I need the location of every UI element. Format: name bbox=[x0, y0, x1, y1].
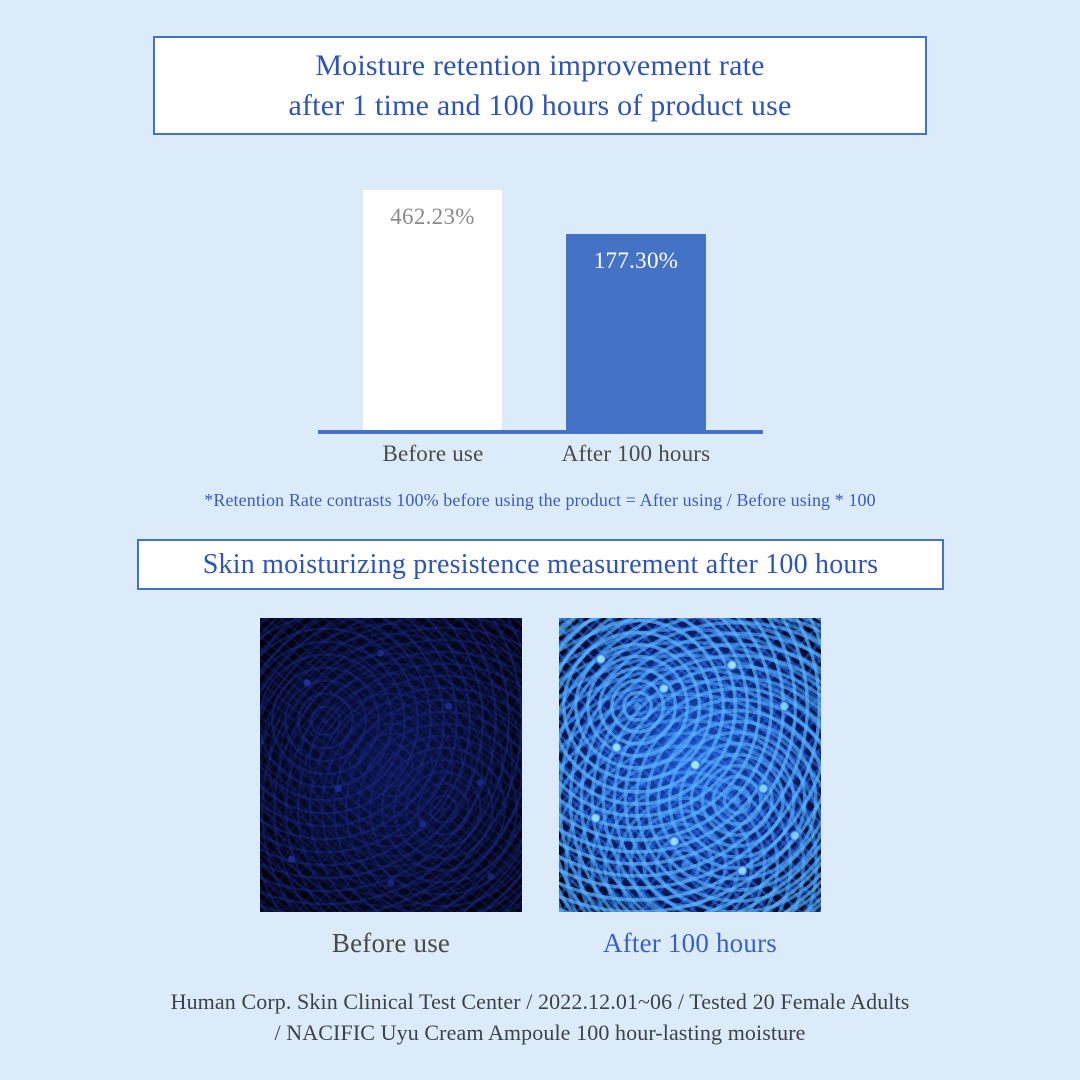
bar-value-after-100-hours: 177.30% bbox=[566, 248, 706, 274]
source-line-2: / NACIFIC Uyu Cream Ampoule 100 hour-las… bbox=[0, 1017, 1080, 1048]
bar-value-before-use: 462.23% bbox=[363, 204, 502, 230]
source-line-1: Human Corp. Skin Clinical Test Center / … bbox=[0, 986, 1080, 1017]
category-label-after-100-hours: After 100 hours bbox=[536, 441, 736, 467]
chart-axis-line bbox=[318, 430, 763, 434]
section-header-box: Skin moisturizing presistence measuremen… bbox=[137, 539, 944, 590]
fluorescence-speckle-layer-after bbox=[559, 618, 821, 912]
micrograph-caption-after-100-hours: After 100 hours bbox=[559, 928, 821, 959]
fluorescence-speckle-layer-before bbox=[260, 618, 522, 912]
category-label-before-use: Before use bbox=[333, 441, 533, 467]
micrograph-before-use bbox=[260, 618, 522, 912]
title-line-2: after 1 time and 100 hours of product us… bbox=[288, 86, 791, 126]
title-line-1: Moisture retention improvement rate bbox=[315, 46, 764, 86]
section-header-label: Skin moisturizing presistence measuremen… bbox=[203, 549, 878, 581]
bar-chart: 462.23% 177.30% Before use After 100 hou… bbox=[300, 175, 780, 475]
micrograph-caption-before-use: Before use bbox=[260, 928, 522, 959]
title-box: Moisture retention improvement rate afte… bbox=[153, 36, 927, 135]
source-note: Human Corp. Skin Clinical Test Center / … bbox=[0, 986, 1080, 1048]
chart-footnote: *Retention Rate contrasts 100% before us… bbox=[0, 490, 1080, 511]
bar-after-100-hours: 177.30% bbox=[566, 234, 706, 433]
micrograph-after-100-hours bbox=[559, 618, 821, 912]
bar-before-use: 462.23% bbox=[363, 190, 502, 433]
